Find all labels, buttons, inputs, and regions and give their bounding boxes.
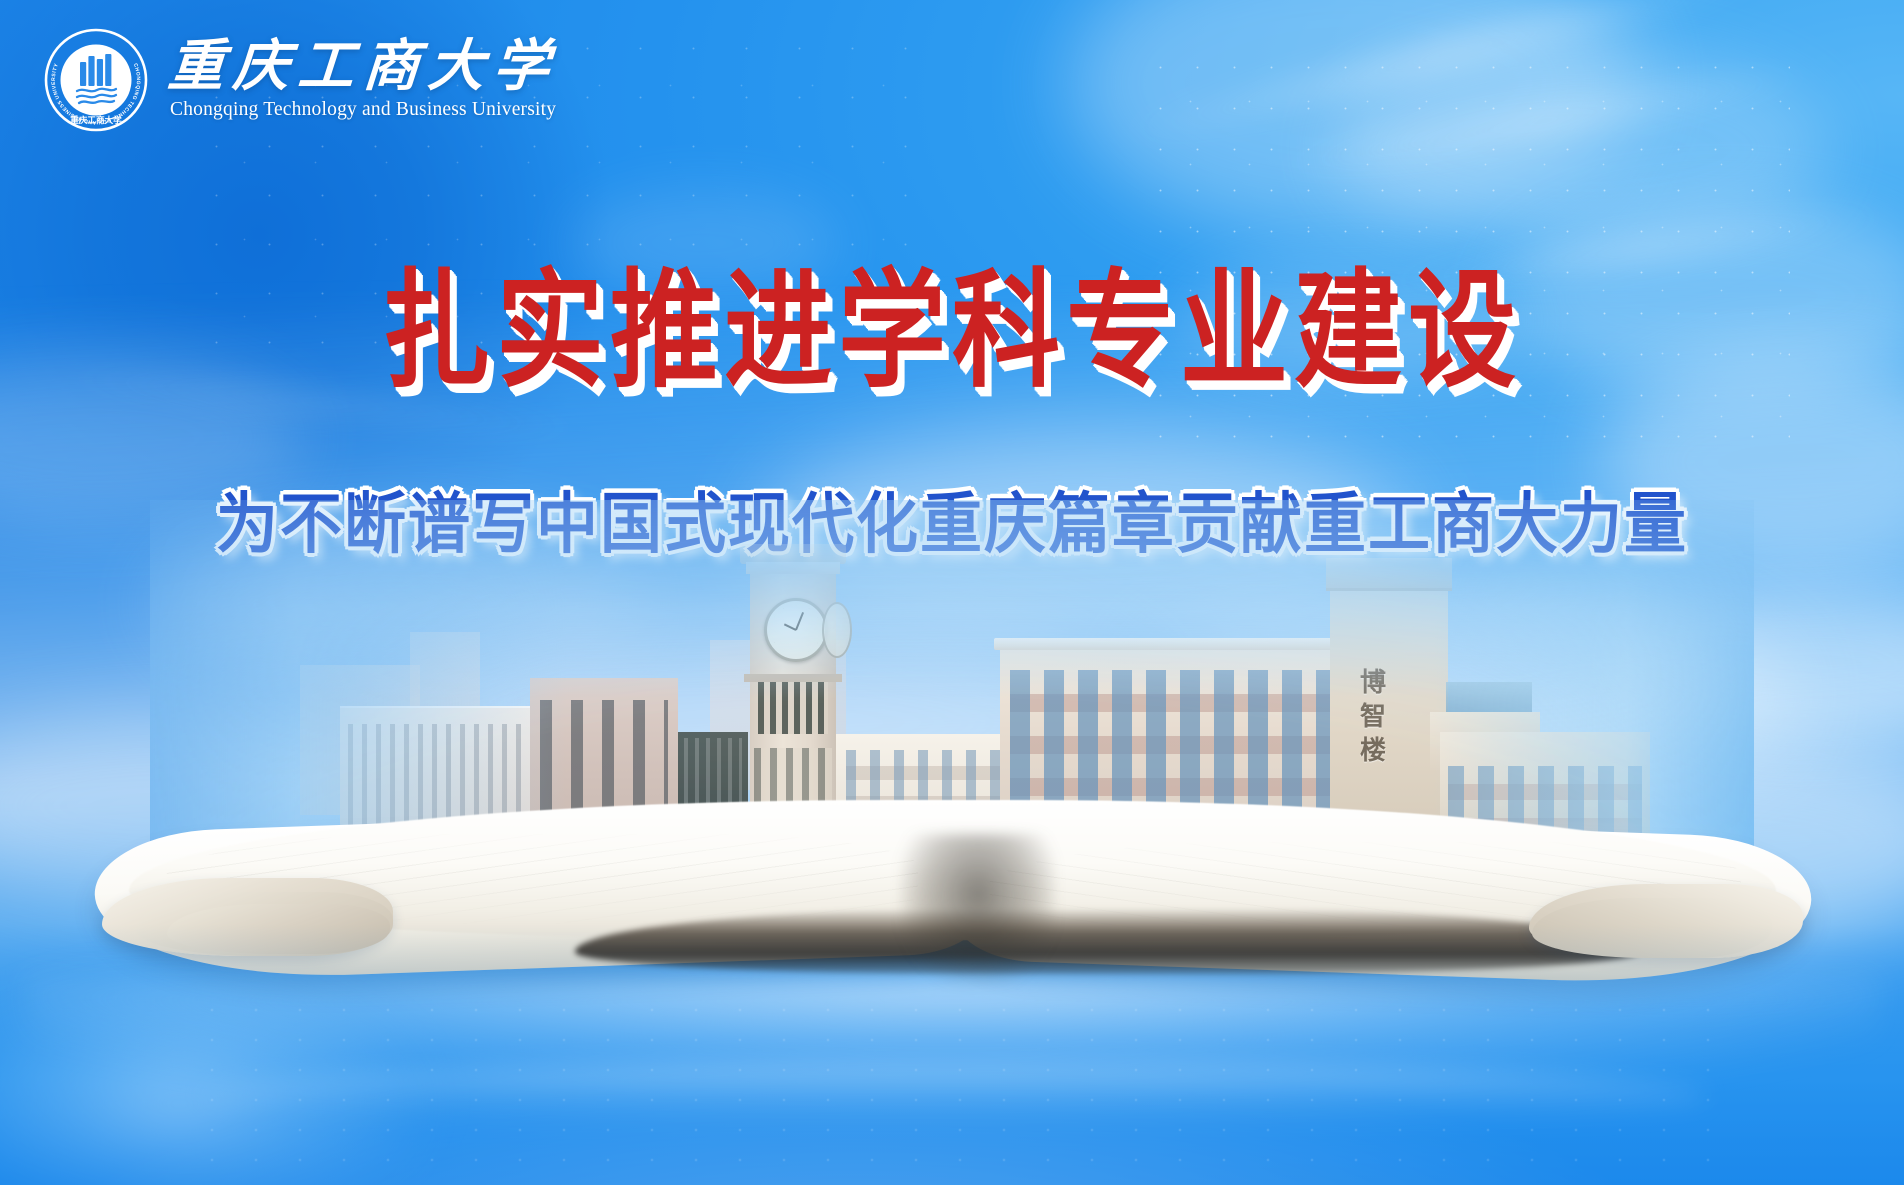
banner-canvas: CHONGQING TECHNOLOGY AND BUSINESS UNIVER… — [0, 0, 1904, 1185]
foreground-sparkle — [190, 995, 1713, 1161]
banner-headline: 扎实推进学科专业建设 — [0, 228, 1904, 412]
inscription-char-2: 智 — [1360, 704, 1386, 730]
brand-text-block: 重庆工商大学 Chongqing Technology and Business… — [164, 39, 558, 121]
svg-text:重庆工商大学: 重庆工商大学 — [70, 114, 122, 125]
brand-name-cn: 重庆工商大学 — [166, 39, 560, 96]
university-crest-icon: CHONGQING TECHNOLOGY AND BUSINESS UNIVER… — [44, 28, 148, 132]
brand-lockup: CHONGQING TECHNOLOGY AND BUSINESS UNIVER… — [44, 28, 558, 132]
brand-name-en: Chongqing Technology and Business Univer… — [170, 99, 556, 121]
inscription-char-3: 楼 — [1360, 738, 1386, 764]
